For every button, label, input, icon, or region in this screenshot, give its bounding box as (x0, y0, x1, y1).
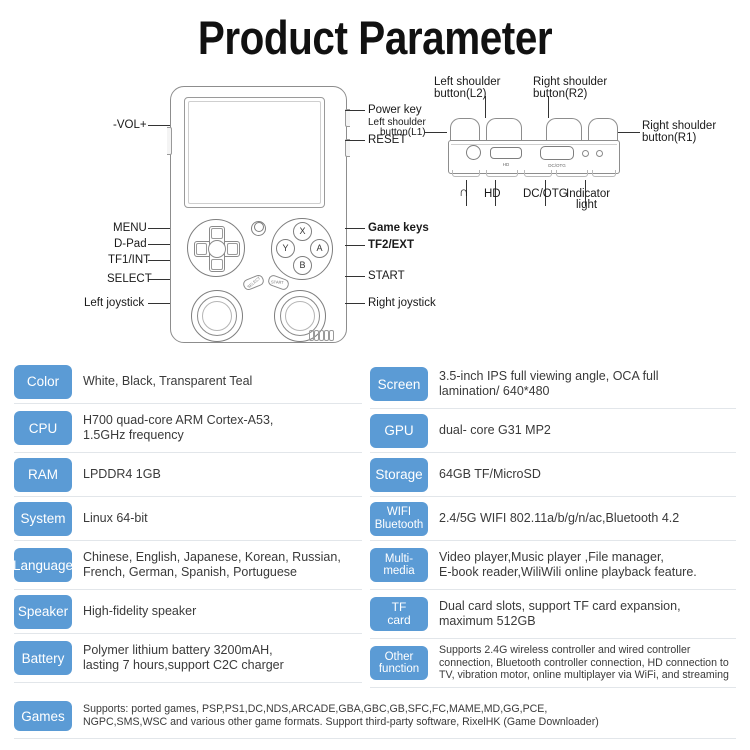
spec-tf-card-value: Dual card slots, support TF card expansi… (428, 599, 736, 630)
page-title: Product Parameter (53, 10, 698, 65)
button-a: A (310, 239, 329, 258)
spec-multimedia-value: Video player,Music player ,File manager,… (428, 550, 736, 581)
spec-gpu-value: dual- core G31 MP2 (428, 423, 736, 439)
spec-cpu: CPUH700 quad-core ARM Cortex-A53,1.5GHz … (14, 404, 362, 453)
leader-vol (148, 125, 170, 126)
hd-label: HD (484, 188, 501, 200)
button-y: Y (276, 239, 295, 258)
device-front-body: X Y A B SELECT START (170, 86, 347, 343)
power-key (345, 109, 350, 127)
spec-wifi-bluetooth-badge: WIFIBluetooth (370, 502, 428, 536)
spec-ram-badge: RAM (14, 458, 72, 492)
spec-language: LanguageChinese, English, Japanese, Kore… (14, 541, 362, 590)
leader-left-joystick (148, 303, 170, 304)
tf2-ext-label: TF2/EXT (368, 239, 414, 251)
dpad-right-icon (227, 243, 238, 255)
left-joystick-label: Left joystick (84, 297, 144, 309)
device-screen (184, 97, 325, 208)
spec-color: ColorWhite, Black, Transparent Teal (14, 360, 362, 404)
spec-system: SystemLinux 64-bit (14, 497, 362, 541)
leader-menu (148, 228, 170, 229)
spec-system-badge: System (14, 502, 72, 536)
volume-rocker (167, 127, 172, 155)
dpad-up-icon (211, 228, 223, 239)
spec-tf-card-badge: TFcard (370, 597, 428, 631)
spec-storage-badge: Storage (370, 458, 428, 492)
leader-start (345, 276, 365, 277)
spec-wifi-bluetooth: WIFIBluetooth2.4/5G WIFI 802.11a/b/g/n/a… (370, 497, 736, 541)
spec-column-right: Screen3.5-inch IPS full viewing angle, O… (370, 360, 736, 688)
dcotg-label: DC/OTG (523, 188, 568, 200)
spec-cpu-value: H700 quad-core ARM Cortex-A53,1.5GHz fre… (72, 413, 362, 444)
product-diagram: X Y A B SELECT START -VOL+ MENU D-Pad TF… (0, 70, 750, 345)
spec-color-badge: Color (14, 365, 72, 399)
vol-label: -VOL+ (113, 119, 147, 131)
right-shoulder-r1-label: Right shoulder (642, 120, 716, 132)
spec-battery-value: Polymer lithium battery 3200mAH,lasting … (72, 643, 362, 674)
left-shoulder-l2-label2: button(L2) (434, 88, 486, 100)
spec-games-badge: Games (14, 701, 72, 731)
hd-port: HD (490, 147, 522, 159)
speaker-grille (309, 330, 335, 339)
spec-screen: Screen3.5-inch IPS full viewing angle, O… (370, 360, 736, 409)
dpad (187, 219, 245, 277)
headphone-jack-port (466, 145, 481, 160)
right-shoulder-r2-label2: button(R2) (533, 88, 587, 100)
reset-key (345, 139, 350, 157)
dpad-left-icon (196, 243, 207, 255)
leader-tf2 (345, 245, 365, 246)
action-buttons-cluster: X Y A B (271, 218, 333, 280)
spec-battery: BatteryPolymer lithium battery 3200mAH,l… (14, 634, 362, 683)
menu-button (251, 221, 266, 236)
left-shoulder-l2-label: Left shoulder (434, 76, 501, 88)
dcotg-port: DC/OTG (540, 146, 574, 160)
bottom-tabs (452, 170, 614, 176)
spec-storage-value: 64GB TF/MicroSD (428, 467, 736, 483)
leader-reset (345, 140, 365, 141)
menu-label: MENU (113, 222, 147, 234)
spec-other-function-value: Supports 2.4G wireless controller and wi… (428, 644, 736, 682)
indicator-light-label2: light (576, 199, 597, 211)
spec-gpu-badge: GPU (370, 414, 428, 448)
select-button: SELECT (242, 273, 266, 291)
select-label: SELECT (107, 273, 152, 285)
spec-games-value: Supports: ported games, PSP,PS1,DC,NDS,A… (72, 703, 736, 728)
spec-ram-value: LPDDR4 1GB (72, 467, 362, 483)
start-label: START (368, 270, 405, 282)
spec-speaker-badge: Speaker (14, 595, 72, 629)
button-x: X (293, 222, 312, 241)
right-joystick-label: Right joystick (368, 297, 436, 309)
right-shoulder-r1-label2: button(R1) (642, 132, 696, 144)
spec-multimedia-badge: Multi-media (370, 548, 428, 582)
power-key-label: Power key (368, 104, 422, 116)
spec-other-function-badge: Otherfunction (370, 646, 428, 680)
spec-system-value: Linux 64-bit (72, 511, 362, 527)
indicator-light-2 (596, 150, 603, 157)
spec-column-left: ColorWhite, Black, Transparent TealCPUH7… (14, 360, 362, 683)
spec-games-row: GamesSupports: ported games, PSP,PS1,DC,… (14, 694, 736, 739)
tf1-label: TF1/INT (108, 254, 150, 266)
dpad-down-icon (211, 259, 223, 270)
spec-wifi-bluetooth-value: 2.4/5G WIFI 802.11a/b/g/n/ac,Bluetooth 4… (428, 511, 736, 527)
spec-multimedia: Multi-mediaVideo player,Music player ,Fi… (370, 541, 736, 590)
spec-ram: RAMLPDDR4 1GB (14, 453, 362, 497)
reset-label: RESET (368, 134, 406, 146)
spec-cpu-badge: CPU (14, 411, 72, 445)
leader-dpad (148, 244, 170, 245)
device-top-view: HD DC/OTG (448, 118, 618, 178)
leader-right-joystick (345, 303, 365, 304)
leader-game-keys (345, 228, 365, 229)
spec-other-function: OtherfunctionSupports 2.4G wireless cont… (370, 639, 736, 688)
spec-screen-badge: Screen (370, 367, 428, 401)
spec-language-value: Chinese, English, Japanese, Korean, Russ… (72, 550, 362, 581)
spec-gpu: GPUdual- core G31 MP2 (370, 409, 736, 453)
spec-screen-value: 3.5-inch IPS full viewing angle, OCA ful… (428, 369, 736, 400)
leader-r1 (618, 132, 640, 133)
spec-tf-card: TFcardDual card slots, support TF card e… (370, 590, 736, 639)
spec-color-value: White, Black, Transparent Teal (72, 374, 362, 390)
indicator-light-1 (582, 150, 589, 157)
dpad-label: D-Pad (114, 238, 147, 250)
left-joystick (191, 290, 243, 342)
leader-power-key (345, 110, 365, 111)
right-shoulder-r2-label: Right shoulder (533, 76, 607, 88)
spec-language-badge: Language (14, 548, 72, 582)
leader-l1-front (425, 132, 447, 133)
spec-speaker: SpeakerHigh-fidelity speaker (14, 590, 362, 634)
spec-storage: Storage64GB TF/MicroSD (370, 453, 736, 497)
game-keys-label: Game keys (368, 222, 429, 234)
spec-battery-badge: Battery (14, 641, 72, 675)
spec-speaker-value: High-fidelity speaker (72, 604, 362, 620)
headphone-icon: ∩ (459, 185, 468, 198)
leader-tf1 (148, 260, 170, 261)
button-b: B (293, 256, 312, 275)
